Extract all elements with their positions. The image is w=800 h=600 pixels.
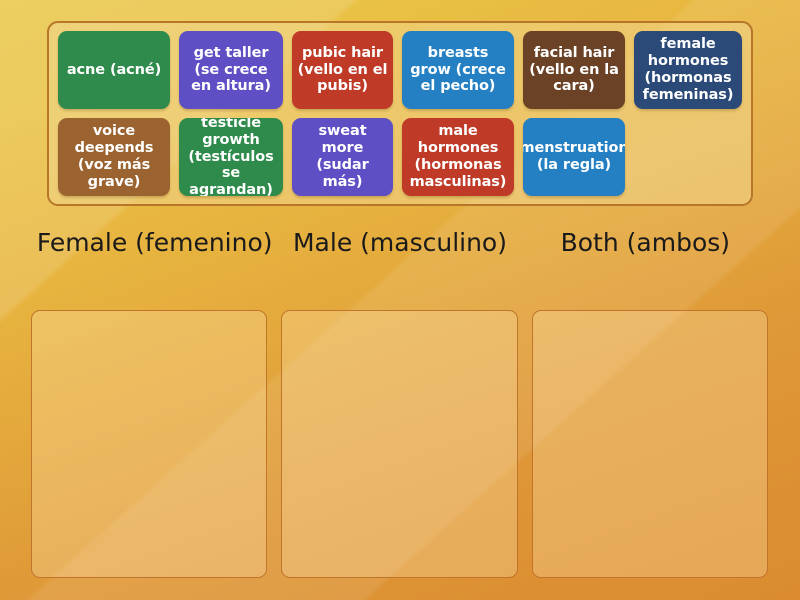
word-tile-label: female hormones (hormonas femeninas) <box>639 36 737 103</box>
word-tile-label: testicle growth (testículos se agrandan) <box>184 118 278 196</box>
word-tile-pubic-hair[interactable]: pubic hair (vello en el pubis) <box>292 31 393 109</box>
word-tile-acne[interactable]: acne (acné) <box>58 31 170 109</box>
word-bank-row-1: acne (acné) get taller (se crece en altu… <box>58 31 742 109</box>
word-tile-testicle-growth[interactable]: testicle growth (testículos se agrandan) <box>179 118 283 196</box>
word-tile-label: get taller (se crece en altura) <box>184 45 278 95</box>
word-tile-label: breasts grow (crece el pecho) <box>407 45 509 95</box>
word-tile-facial-hair[interactable]: facial hair (vello en la cara) <box>523 31 625 109</box>
word-tile-female-hormones[interactable]: female hormones (hormonas femeninas) <box>634 31 742 109</box>
word-tile-label: menstruation (la regla) <box>523 140 625 174</box>
word-tile-label: voice deepends (voz más grave) <box>63 123 165 190</box>
word-bank-panel: acne (acné) get taller (se crece en altu… <box>47 21 753 206</box>
word-tile-get-taller[interactable]: get taller (se crece en altura) <box>179 31 283 109</box>
drop-zone-male[interactable] <box>281 310 517 578</box>
drop-zones <box>31 310 768 578</box>
word-tile-label: acne (acné) <box>67 62 161 79</box>
word-tile-label: pubic hair (vello en el pubis) <box>297 45 388 95</box>
word-tile-menstruation[interactable]: menstruation (la regla) <box>523 118 625 196</box>
drop-zone-female[interactable] <box>31 310 267 578</box>
word-tile-label: male hormones (hormonas masculinas) <box>407 123 509 190</box>
drop-zone-both[interactable] <box>532 310 768 578</box>
word-bank-row-2: voice deepends (voz más grave) testicle … <box>58 118 742 196</box>
category-header-female: Female (femenino) <box>32 228 277 257</box>
category-header-male: Male (masculino) <box>277 228 522 257</box>
category-header-both: Both (ambos) <box>523 228 768 257</box>
word-tile-sweat-more[interactable]: sweat more (sudar más) <box>292 118 393 196</box>
word-tile-breasts-grow[interactable]: breasts grow (crece el pecho) <box>402 31 514 109</box>
category-headers: Female (femenino) Male (masculino) Both … <box>32 228 768 257</box>
word-tile-voice-deepends[interactable]: voice deepends (voz más grave) <box>58 118 170 196</box>
word-tile-label: facial hair (vello en la cara) <box>528 45 620 95</box>
word-tile-male-hormones[interactable]: male hormones (hormonas masculinas) <box>402 118 514 196</box>
word-tile-label: sweat more (sudar más) <box>297 123 388 190</box>
